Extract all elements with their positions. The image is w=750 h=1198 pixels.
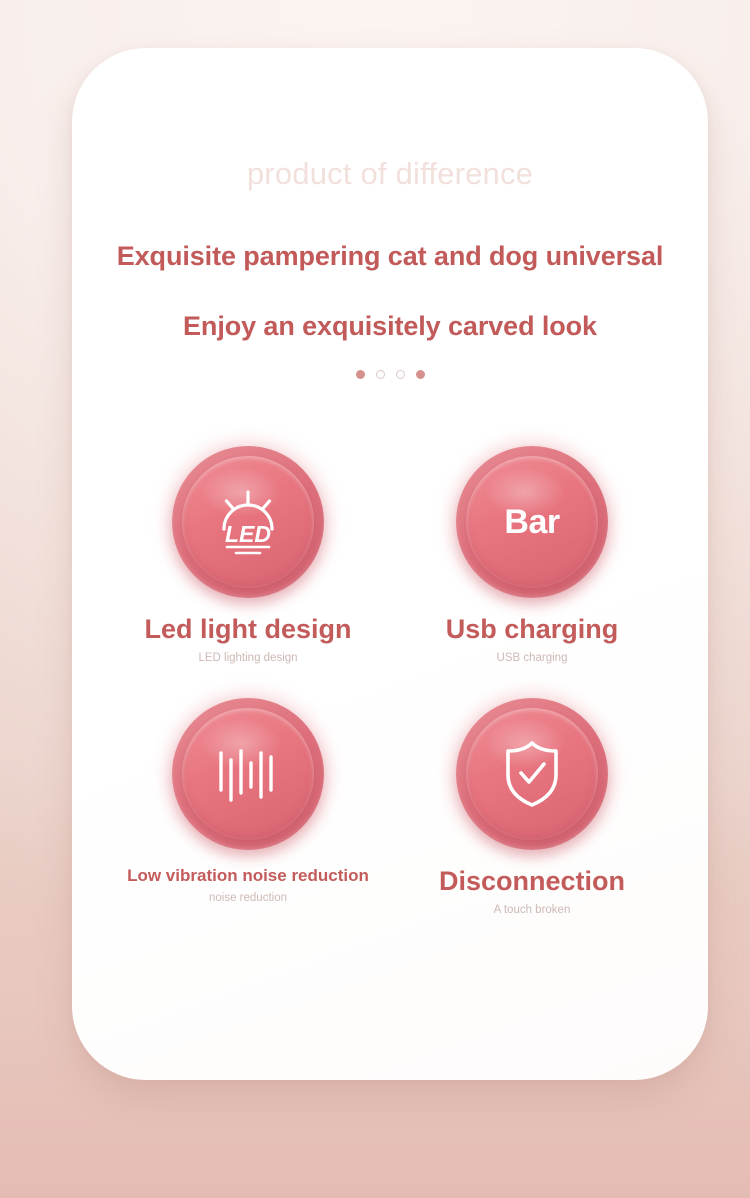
feature-button-face-usb[interactable]: Bar xyxy=(466,456,598,588)
feature-button-ring-disconnect[interactable] xyxy=(456,698,608,850)
feature-subtitle-noise-reduction: noise reduction xyxy=(209,892,287,904)
svg-text:LED: LED xyxy=(225,521,271,547)
feature-button-face-disconnect[interactable] xyxy=(466,708,598,840)
feature-item-disconnection[interactable]: Disconnection A touch broken xyxy=(390,686,674,916)
bar-text-icon: Bar xyxy=(504,503,559,542)
watermark-heading: product of difference xyxy=(72,156,708,192)
feature-item-led-light[interactable]: LED Led light design LED lighting design xyxy=(106,434,390,664)
headline-primary: Exquisite pampering cat and dog universa… xyxy=(72,241,708,272)
vibration-waveform-icon xyxy=(216,743,280,805)
carousel-dot-1[interactable] xyxy=(356,370,365,379)
feature-button-wrap-disconnect[interactable] xyxy=(444,686,620,862)
led-sun-icon: LED xyxy=(211,489,285,555)
feature-button-wrap-noise[interactable] xyxy=(160,686,336,862)
feature-title-disconnection: Disconnection xyxy=(439,866,625,898)
feature-item-usb-charging[interactable]: Bar Usb charging USB charging xyxy=(390,434,674,664)
feature-grid: LED Led light design LED lighting design… xyxy=(106,434,674,916)
carousel-dot-2[interactable] xyxy=(376,370,385,379)
feature-title-usb-charging: Usb charging xyxy=(446,614,619,646)
carousel-dot-3[interactable] xyxy=(396,370,405,379)
headline-secondary: Enjoy an exquisitely carved look xyxy=(72,311,708,342)
feature-subtitle-disconnection: A touch broken xyxy=(494,904,571,916)
shield-check-icon xyxy=(501,739,563,809)
feature-button-ring-usb[interactable]: Bar xyxy=(456,446,608,598)
feature-title-noise-reduction: Low vibration noise reduction xyxy=(127,866,369,886)
feature-button-wrap-usb[interactable]: Bar xyxy=(444,434,620,610)
feature-button-ring-noise[interactable] xyxy=(172,698,324,850)
product-feature-card: product of difference Exquisite pamperin… xyxy=(72,48,708,1080)
feature-button-face-noise[interactable] xyxy=(182,708,314,840)
feature-button-wrap-led[interactable]: LED xyxy=(160,434,336,610)
feature-subtitle-led-light: LED lighting design xyxy=(198,652,297,664)
feature-title-led-light: Led light design xyxy=(145,614,352,646)
feature-subtitle-usb-charging: USB charging xyxy=(497,652,568,664)
feature-button-ring-led[interactable]: LED xyxy=(172,446,324,598)
carousel-dots[interactable] xyxy=(72,370,708,379)
feature-button-face-led[interactable]: LED xyxy=(182,456,314,588)
carousel-dot-4[interactable] xyxy=(416,370,425,379)
feature-item-noise-reduction[interactable]: Low vibration noise reduction noise redu… xyxy=(106,686,390,916)
